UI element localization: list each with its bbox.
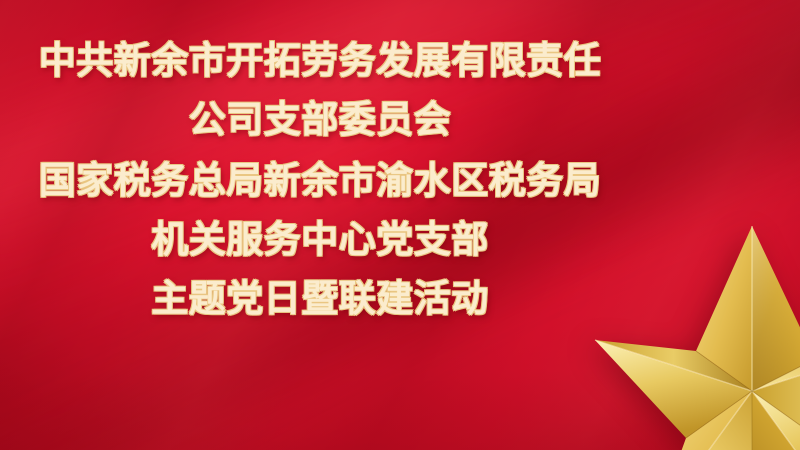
banner-line-1: 中共新余市开拓劳务发展有限责任 xyxy=(0,42,640,79)
banner-line-2: 公司支部委员会 xyxy=(0,101,640,138)
banner-line-5: 主题党日暨联建活动 xyxy=(0,280,640,317)
banner-canvas: 中共新余市开拓劳务发展有限责任 公司支部委员会 国家税务总局新余市渝水区税务局 … xyxy=(0,0,800,450)
banner-line-3: 国家税务总局新余市渝水区税务局 xyxy=(0,162,640,199)
banner-title-block: 中共新余市开拓劳务发展有限责任 公司支部委员会 国家税务总局新余市渝水区税务局 … xyxy=(0,42,640,317)
banner-line-4: 机关服务中心党支部 xyxy=(0,221,640,258)
